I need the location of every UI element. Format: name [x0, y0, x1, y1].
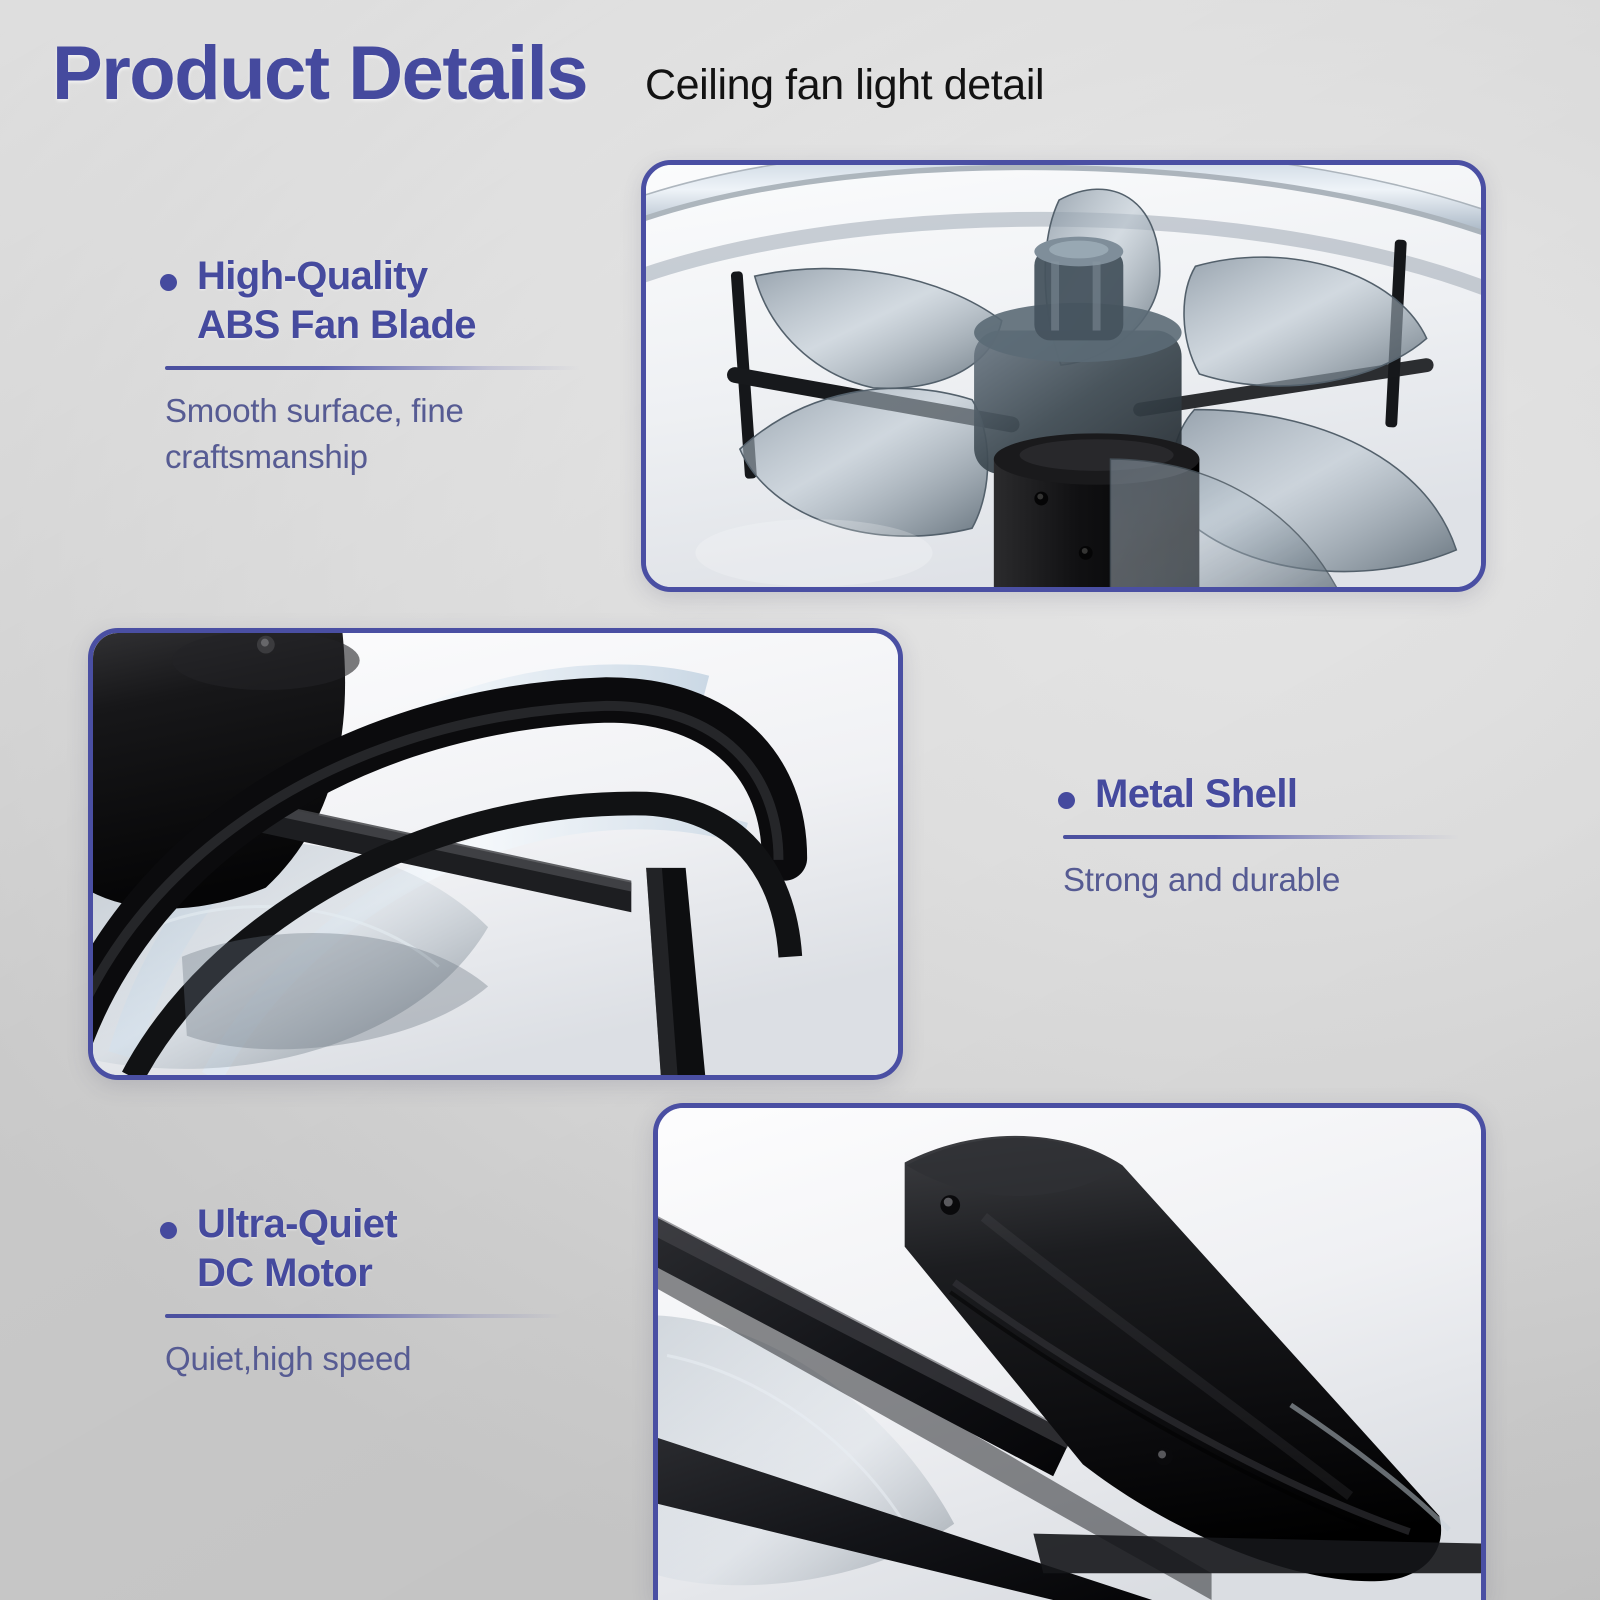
feature-title-line-2: ABS Fan Blade: [197, 301, 476, 350]
feature-title: Metal Shell: [1095, 770, 1297, 819]
metal-shell-closeup-image: [93, 633, 898, 1075]
feature-divider: [1063, 835, 1461, 839]
feature-title-line-2: DC Motor: [197, 1249, 397, 1298]
page-title: Product Details: [52, 30, 587, 117]
feature-title-line-1: Ultra-Quiet: [197, 1200, 397, 1249]
feature-heading: Metal Shell: [1058, 770, 1458, 819]
feature-divider: [165, 366, 580, 370]
page-header: Product Details Ceiling fan light detail: [52, 30, 1044, 117]
photo-card-fan-blade: [641, 160, 1486, 592]
dc-motor-closeup-image: [658, 1108, 1481, 1600]
photo-card-metal-shell: [88, 628, 903, 1080]
feature-description: Quiet,high speed: [165, 1336, 560, 1382]
bullet-dot-icon: [1058, 792, 1075, 809]
page-subtitle: Ceiling fan light detail: [645, 61, 1044, 110]
photo-card-dc-motor: [653, 1103, 1486, 1600]
feature-block-metal-shell: Metal Shell Strong and durable: [1058, 770, 1458, 903]
feature-description: Strong and durable: [1063, 857, 1458, 903]
feature-divider: [165, 1314, 563, 1318]
feature-title: High-Quality ABS Fan Blade: [197, 252, 476, 350]
feature-block-fan-blade: High-Quality ABS Fan Blade Smooth surfac…: [160, 252, 590, 479]
feature-title-line-1: High-Quality: [197, 252, 476, 301]
feature-heading: High-Quality ABS Fan Blade: [160, 252, 590, 350]
feature-title-line-1: Metal Shell: [1095, 770, 1297, 819]
bullet-dot-icon: [160, 274, 177, 291]
fan-blade-closeup-image: [646, 165, 1481, 587]
feature-block-dc-motor: Ultra-Quiet DC Motor Quiet,high speed: [160, 1200, 560, 1382]
feature-description: Smooth surface, fine craftsmanship: [165, 388, 590, 479]
bullet-dot-icon: [160, 1222, 177, 1239]
feature-heading: Ultra-Quiet DC Motor: [160, 1200, 560, 1298]
product-details-page: Product Details Ceiling fan light detail…: [0, 0, 1600, 1600]
feature-title: Ultra-Quiet DC Motor: [197, 1200, 397, 1298]
